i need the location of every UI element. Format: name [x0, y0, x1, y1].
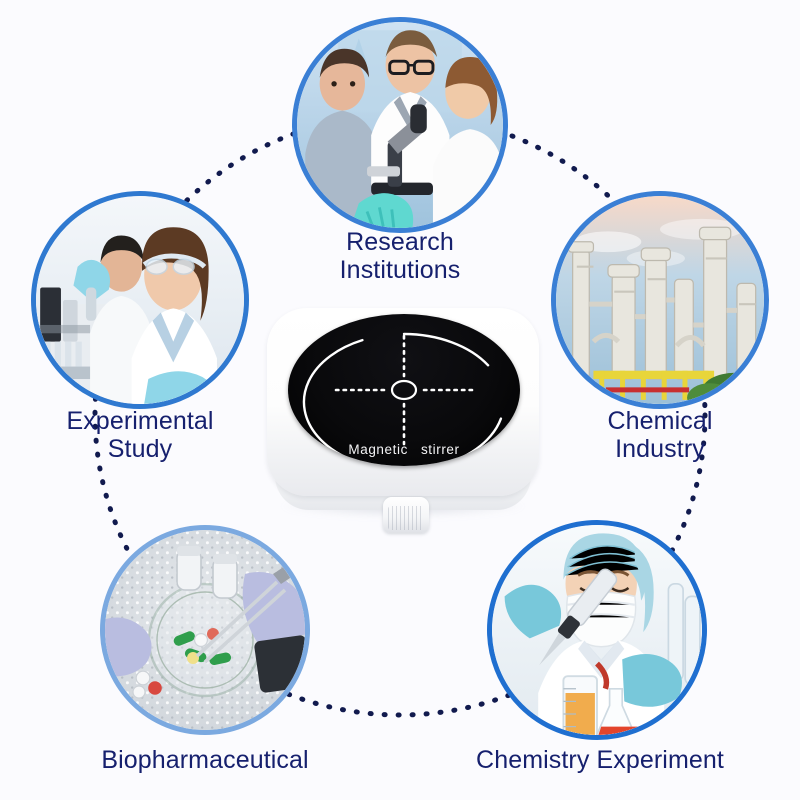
app-label-chemistry-experiment: Chemistry Experiment	[450, 746, 750, 774]
app-label-experimental-study: Experimental Study	[20, 407, 260, 463]
magnetic-stirrer-device[interactable]: Magneticstirrer	[255, 300, 555, 545]
app-circle-chemistry-experiment[interactable]	[487, 520, 707, 740]
device-heating-plate[interactable]: Magneticstirrer	[288, 314, 520, 466]
plate-label-magnetic: Magnetic	[348, 442, 408, 457]
refinery-plant-photo	[556, 196, 764, 404]
lab-technicians-photo	[36, 196, 244, 404]
app-label-research-institutions: Research Institutions	[280, 228, 520, 284]
device-speed-knob[interactable]	[383, 497, 429, 533]
app-circle-chemical-industry[interactable]	[551, 191, 769, 409]
scientist-pipetting-photo	[492, 525, 702, 735]
app-circle-research-institutions[interactable]	[292, 17, 508, 233]
petri-dish-capsules-photo	[105, 530, 305, 730]
plate-label-stirrer: stirrer	[421, 442, 460, 457]
app-label-chemical-industry: Chemical Industry	[540, 407, 780, 463]
device-plate-label: Magneticstirrer	[288, 442, 520, 457]
knob-ridges-icon	[388, 506, 424, 530]
application-diagram: Research Institutions	[0, 0, 800, 800]
app-circle-biopharmaceutical[interactable]	[100, 525, 310, 735]
app-label-biopharmaceutical: Biopharmaceutical	[60, 746, 350, 774]
scientists-at-microscope-photo	[297, 22, 503, 228]
app-circle-experimental-study[interactable]	[31, 191, 249, 409]
